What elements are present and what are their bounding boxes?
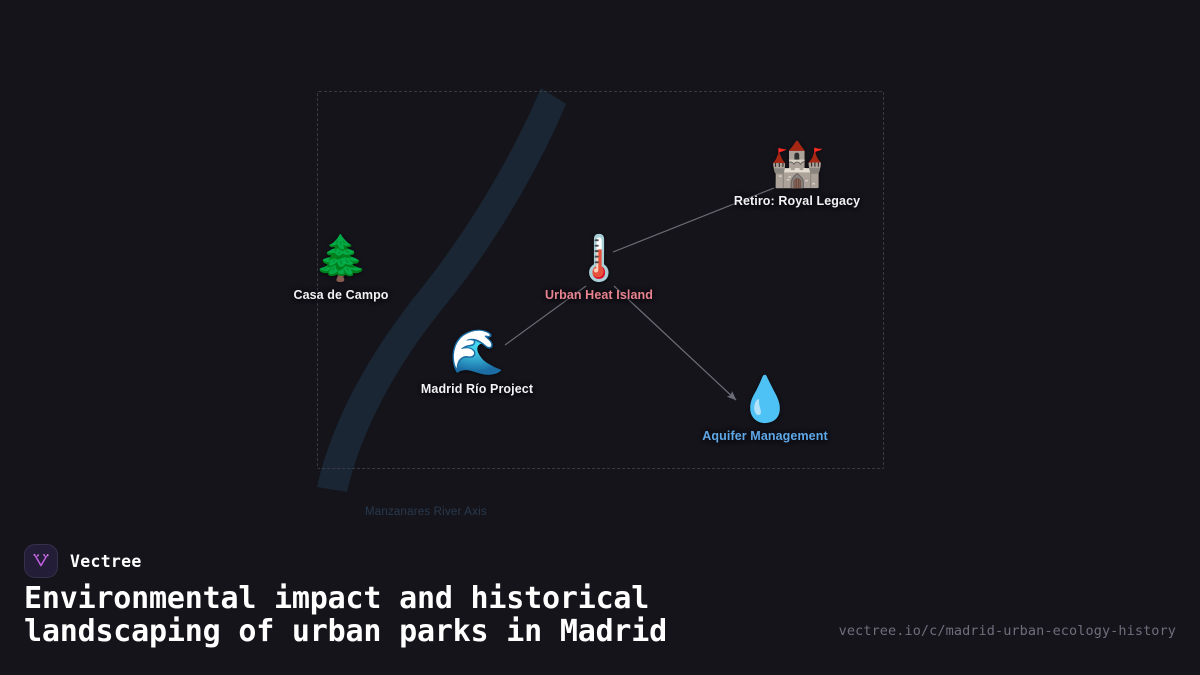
- footer-bar: Vectree Environmental impact and histori…: [0, 540, 1200, 675]
- page-url[interactable]: vectree.io/c/madrid-urban-ecology-histor…: [839, 623, 1176, 639]
- river-axis-label: Manzanares River Axis: [365, 506, 487, 518]
- diagram-canvas[interactable]: Manzanares River Axis 🌲 Casa de Campo 🌊 …: [0, 0, 1200, 540]
- node-label-aquifer-management: Aquifer Management: [702, 429, 827, 443]
- water-wave-icon: 🌊: [450, 328, 505, 378]
- vectree-logo-icon: [24, 544, 58, 578]
- page-title-line-2: landscaping of urban parks in Madrid: [24, 615, 834, 648]
- droplet-icon: 💧: [738, 375, 793, 425]
- node-casa-de-campo[interactable]: 🌲 Casa de Campo: [231, 234, 451, 302]
- node-retiro-royal-legacy[interactable]: 🏰 Retiro: Royal Legacy: [687, 140, 907, 208]
- brand-row[interactable]: Vectree: [24, 544, 142, 578]
- node-label-madrid-rio-project: Madrid Río Project: [421, 382, 533, 396]
- node-madrid-rio-project[interactable]: 🌊 Madrid Río Project: [367, 328, 587, 396]
- node-label-urban-heat-island: Urban Heat Island: [545, 288, 653, 302]
- node-aquifer-management[interactable]: 💧 Aquifer Management: [655, 375, 875, 443]
- castle-icon: 🏰: [770, 140, 825, 190]
- node-urban-heat-island[interactable]: 🌡️ Urban Heat Island: [489, 234, 709, 302]
- node-label-retiro-royal-legacy: Retiro: Royal Legacy: [734, 194, 860, 208]
- page-title: Environmental impact and historical land…: [24, 582, 834, 648]
- evergreen-tree-icon: 🌲: [314, 234, 369, 284]
- thermometer-icon: 🌡️: [572, 234, 627, 284]
- page-title-line-1: Environmental impact and historical: [24, 582, 834, 615]
- brand-name: Vectree: [70, 552, 142, 571]
- node-label-casa-de-campo: Casa de Campo: [293, 288, 388, 302]
